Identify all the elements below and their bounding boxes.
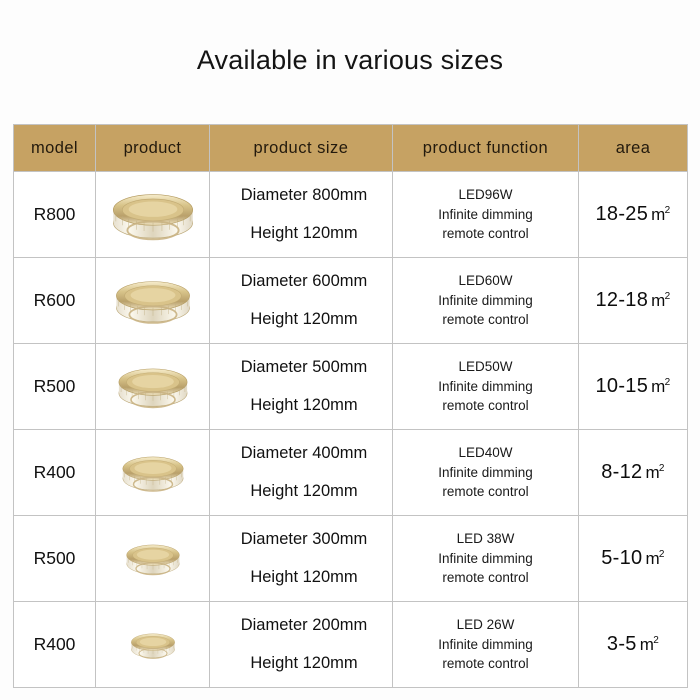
cell-function: LED 26W Infinite dimming remote control [393,602,579,688]
ring-ceiling-lamp-icon [105,271,201,330]
cell-model: R600 [14,258,96,344]
function-remote: remote control [393,654,578,674]
cell-product [96,430,210,516]
table-header-row: model product product size product funct… [14,125,688,172]
area-unit: m2 [645,463,664,482]
function-power: LED 26W [393,615,578,635]
cell-model: R500 [14,516,96,602]
column-header-function: product function [393,125,579,172]
size-diameter: Diameter 600mm [210,271,392,292]
cell-function: LED40W Infinite dimming remote control [393,430,579,516]
column-header-area: area [579,125,688,172]
cell-area: 18-25m2 [579,172,688,258]
cell-product [96,516,210,602]
function-dimming: Infinite dimming [393,291,578,311]
table-row: R500 [14,516,688,602]
function-dimming: Infinite dimming [393,549,578,569]
table-body: R800 [14,172,688,688]
ring-ceiling-lamp-icon [125,627,181,663]
function-power: LED40W [393,443,578,463]
product-image [96,344,209,429]
area-range: 5-10 [601,547,642,569]
function-dimming: Infinite dimming [393,635,578,655]
cell-size: Diameter 200mm Height 120mm [210,602,393,688]
area-unit: m2 [651,291,670,310]
function-remote: remote control [393,482,578,502]
table-row: R400 [14,602,688,688]
area-range: 12-18 [596,289,649,311]
cell-size: Diameter 600mm Height 120mm [210,258,393,344]
table-row: R400 [14,430,688,516]
table-header: model product product size product funct… [14,125,688,172]
product-image [96,172,209,257]
function-remote: remote control [393,396,578,416]
column-header-size: product size [210,125,393,172]
cell-function: LED96W Infinite dimming remote control [393,172,579,258]
function-power: LED50W [393,357,578,377]
area-unit: m2 [651,205,670,224]
cell-product [96,344,210,430]
cell-function: LED 38W Infinite dimming remote control [393,516,579,602]
function-power: LED60W [393,271,578,291]
area-range: 10-15 [596,375,649,397]
page-title: Available in various sizes [0,45,700,76]
size-table: model product product size product funct… [13,124,688,688]
cell-area: 10-15m2 [579,344,688,430]
function-power: LED96W [393,185,578,205]
function-power: LED 38W [393,529,578,549]
size-height: Height 120mm [210,223,392,244]
area-range: 3-5 [607,633,637,655]
ring-ceiling-lamp-icon [109,359,197,414]
function-dimming: Infinite dimming [393,463,578,483]
function-remote: remote control [393,310,578,330]
size-height: Height 120mm [210,481,392,502]
table-row: R600 [14,258,688,344]
ring-ceiling-lamp-icon [101,183,205,247]
cell-area: 3-5m2 [579,602,688,688]
cell-area: 12-18m2 [579,258,688,344]
cell-size: Diameter 800mm Height 120mm [210,172,393,258]
product-image [96,258,209,343]
function-remote: remote control [393,224,578,244]
area-unit: m2 [640,635,659,654]
size-height: Height 120mm [210,395,392,416]
product-image [96,516,209,601]
cell-model: R400 [14,430,96,516]
cell-area: 8-12m2 [579,430,688,516]
size-diameter: Diameter 500mm [210,357,392,378]
cell-area: 5-10m2 [579,516,688,602]
table-row: R500 [14,344,688,430]
product-size-chart: Available in various sizes model product… [0,0,700,700]
cell-size: Diameter 500mm Height 120mm [210,344,393,430]
function-dimming: Infinite dimming [393,377,578,397]
product-image [96,602,209,687]
size-diameter: Diameter 300mm [210,529,392,550]
cell-product [96,172,210,258]
column-header-product: product [96,125,210,172]
ring-ceiling-lamp-icon [119,537,187,580]
table-row: R800 [14,172,688,258]
function-dimming: Infinite dimming [393,205,578,225]
cell-function: LED60W Infinite dimming remote control [393,258,579,344]
size-diameter: Diameter 200mm [210,615,392,636]
cell-model: R800 [14,172,96,258]
cell-model: R500 [14,344,96,430]
size-height: Height 120mm [210,653,392,674]
cell-product [96,258,210,344]
size-diameter: Diameter 400mm [210,443,392,464]
column-header-model: model [14,125,96,172]
cell-size: Diameter 400mm Height 120mm [210,430,393,516]
product-image [96,430,209,515]
area-range: 18-25 [596,203,649,225]
cell-product [96,602,210,688]
size-height: Height 120mm [210,309,392,330]
cell-function: LED50W Infinite dimming remote control [393,344,579,430]
function-remote: remote control [393,568,578,588]
ring-ceiling-lamp-icon [114,448,192,497]
area-unit: m2 [645,549,664,568]
cell-size: Diameter 300mm Height 120mm [210,516,393,602]
area-unit: m2 [651,377,670,396]
cell-model: R400 [14,602,96,688]
size-diameter: Diameter 800mm [210,185,392,206]
area-range: 8-12 [601,461,642,483]
size-height: Height 120mm [210,567,392,588]
